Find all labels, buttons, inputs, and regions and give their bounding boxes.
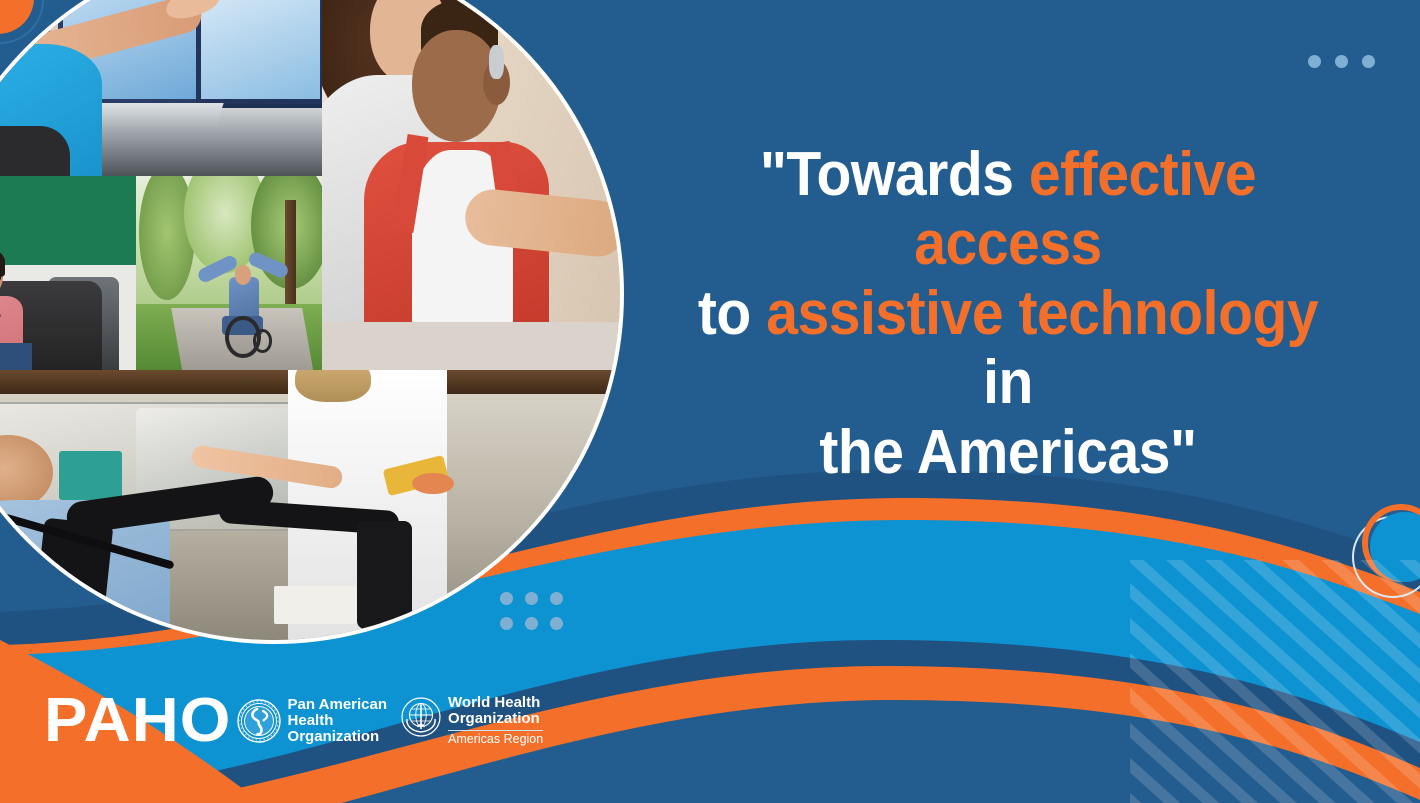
presentation-slide: "Towards effective access to assistive t… [0, 0, 1420, 803]
who-name-line2: Organization [448, 711, 543, 727]
who-region-label: Americas Region [448, 733, 543, 747]
title-line1-plain: "Towards [760, 140, 1029, 209]
who-name-text: World Health Organization Americas Regio… [448, 695, 543, 747]
who-name-line1: World Health [448, 695, 543, 711]
photo-wheelchair-park [136, 176, 323, 370]
photo-computer-user [0, 0, 322, 176]
decorative-dot [525, 592, 538, 605]
paho-wordmark: PAHO [44, 690, 231, 752]
who-emblem [401, 697, 441, 737]
who-logo-block: World Health Organization Americas Regio… [401, 695, 543, 747]
decorative-dot [500, 592, 513, 605]
paho-who-logo-lockup: PAHO Pan American Health Organization [44, 690, 543, 752]
decorative-dot [500, 617, 513, 630]
title-line2-tail: in [983, 348, 1033, 417]
title-line2-plain: to [698, 279, 766, 348]
blue-orange-circle-accent [1348, 500, 1420, 600]
decorative-dot [550, 617, 563, 630]
paho-name-line2: Health [288, 713, 388, 729]
paho-name-line1: Pan American [288, 697, 388, 713]
paho-name-line3: Organization [288, 729, 388, 745]
who-divider [448, 730, 543, 731]
title-line3-plain: the Americas" [819, 418, 1196, 487]
dot-grid-lower [500, 592, 564, 630]
photo-blind-phone-user [0, 176, 136, 370]
photo-hearing-aid [322, 0, 620, 322]
decorative-dot [550, 592, 563, 605]
title-line2-highlight: assistive technology [766, 279, 1318, 348]
photo-collage-circle [0, 0, 624, 644]
slide-title: "Towards effective access to assistive t… [677, 140, 1339, 487]
decorative-dot [525, 617, 538, 630]
paho-name-text: Pan American Health Organization [288, 697, 388, 746]
paho-logo-block: Pan American Health Organization [237, 697, 388, 746]
paho-seal-emblem [237, 699, 281, 743]
